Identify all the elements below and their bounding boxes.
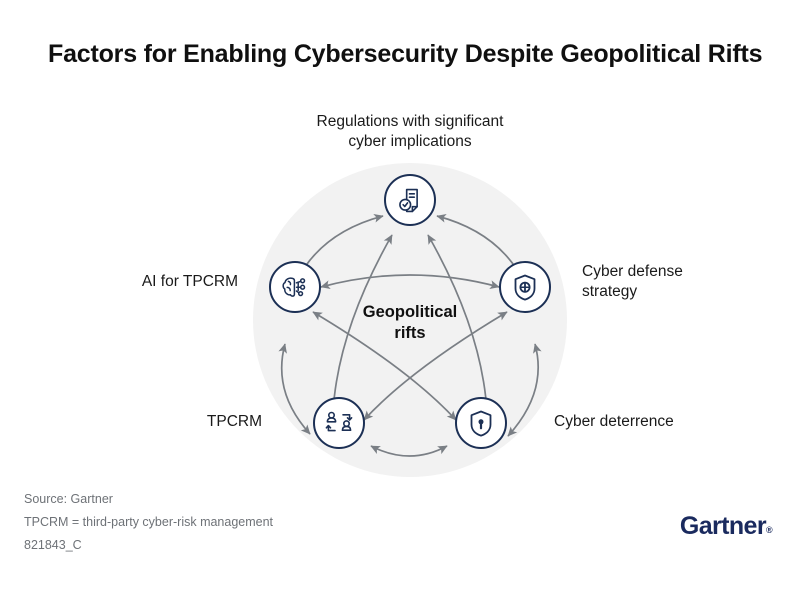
cycle-diagram: Regulations with significant cyber impli…: [0, 80, 800, 480]
node-label-cyber-deterrence: Cyber deterrence: [554, 412, 774, 432]
footer-id: 821843_C: [24, 534, 273, 557]
node-ai-for-tpcrm[interactable]: [270, 262, 320, 312]
footer-notes: Source: Gartner TPCRM = third-party cybe…: [24, 488, 273, 557]
node-cyber-defense-strategy[interactable]: [500, 262, 550, 312]
node-label-cyber-defense-strategy: Cyber defense strategy: [582, 262, 782, 302]
gartner-logo: Gartner®: [680, 512, 772, 541]
node-label-regulations: Regulations with significant cyber impli…: [250, 112, 570, 152]
page-title: Factors for Enabling Cybersecurity Despi…: [48, 40, 768, 69]
node-tpcrm[interactable]: [314, 398, 364, 448]
footer-abbreviation: TPCRM = third-party cyber-risk managemen…: [24, 511, 273, 534]
registered-trademark-icon: ®: [766, 525, 772, 535]
diagram-center-label: Geopolitical rifts: [330, 302, 490, 343]
node-label-tpcrm: TPCRM: [20, 412, 262, 432]
node-tpcrm-circle[interactable]: [314, 398, 364, 448]
node-cyber-deterrence[interactable]: [456, 398, 506, 448]
node-regulations[interactable]: [385, 175, 435, 225]
node-label-ai-for-tpcrm: AI for TPCRM: [20, 272, 238, 292]
gartner-logo-text: Gartner: [680, 512, 766, 540]
footer-source: Source: Gartner: [24, 488, 273, 511]
